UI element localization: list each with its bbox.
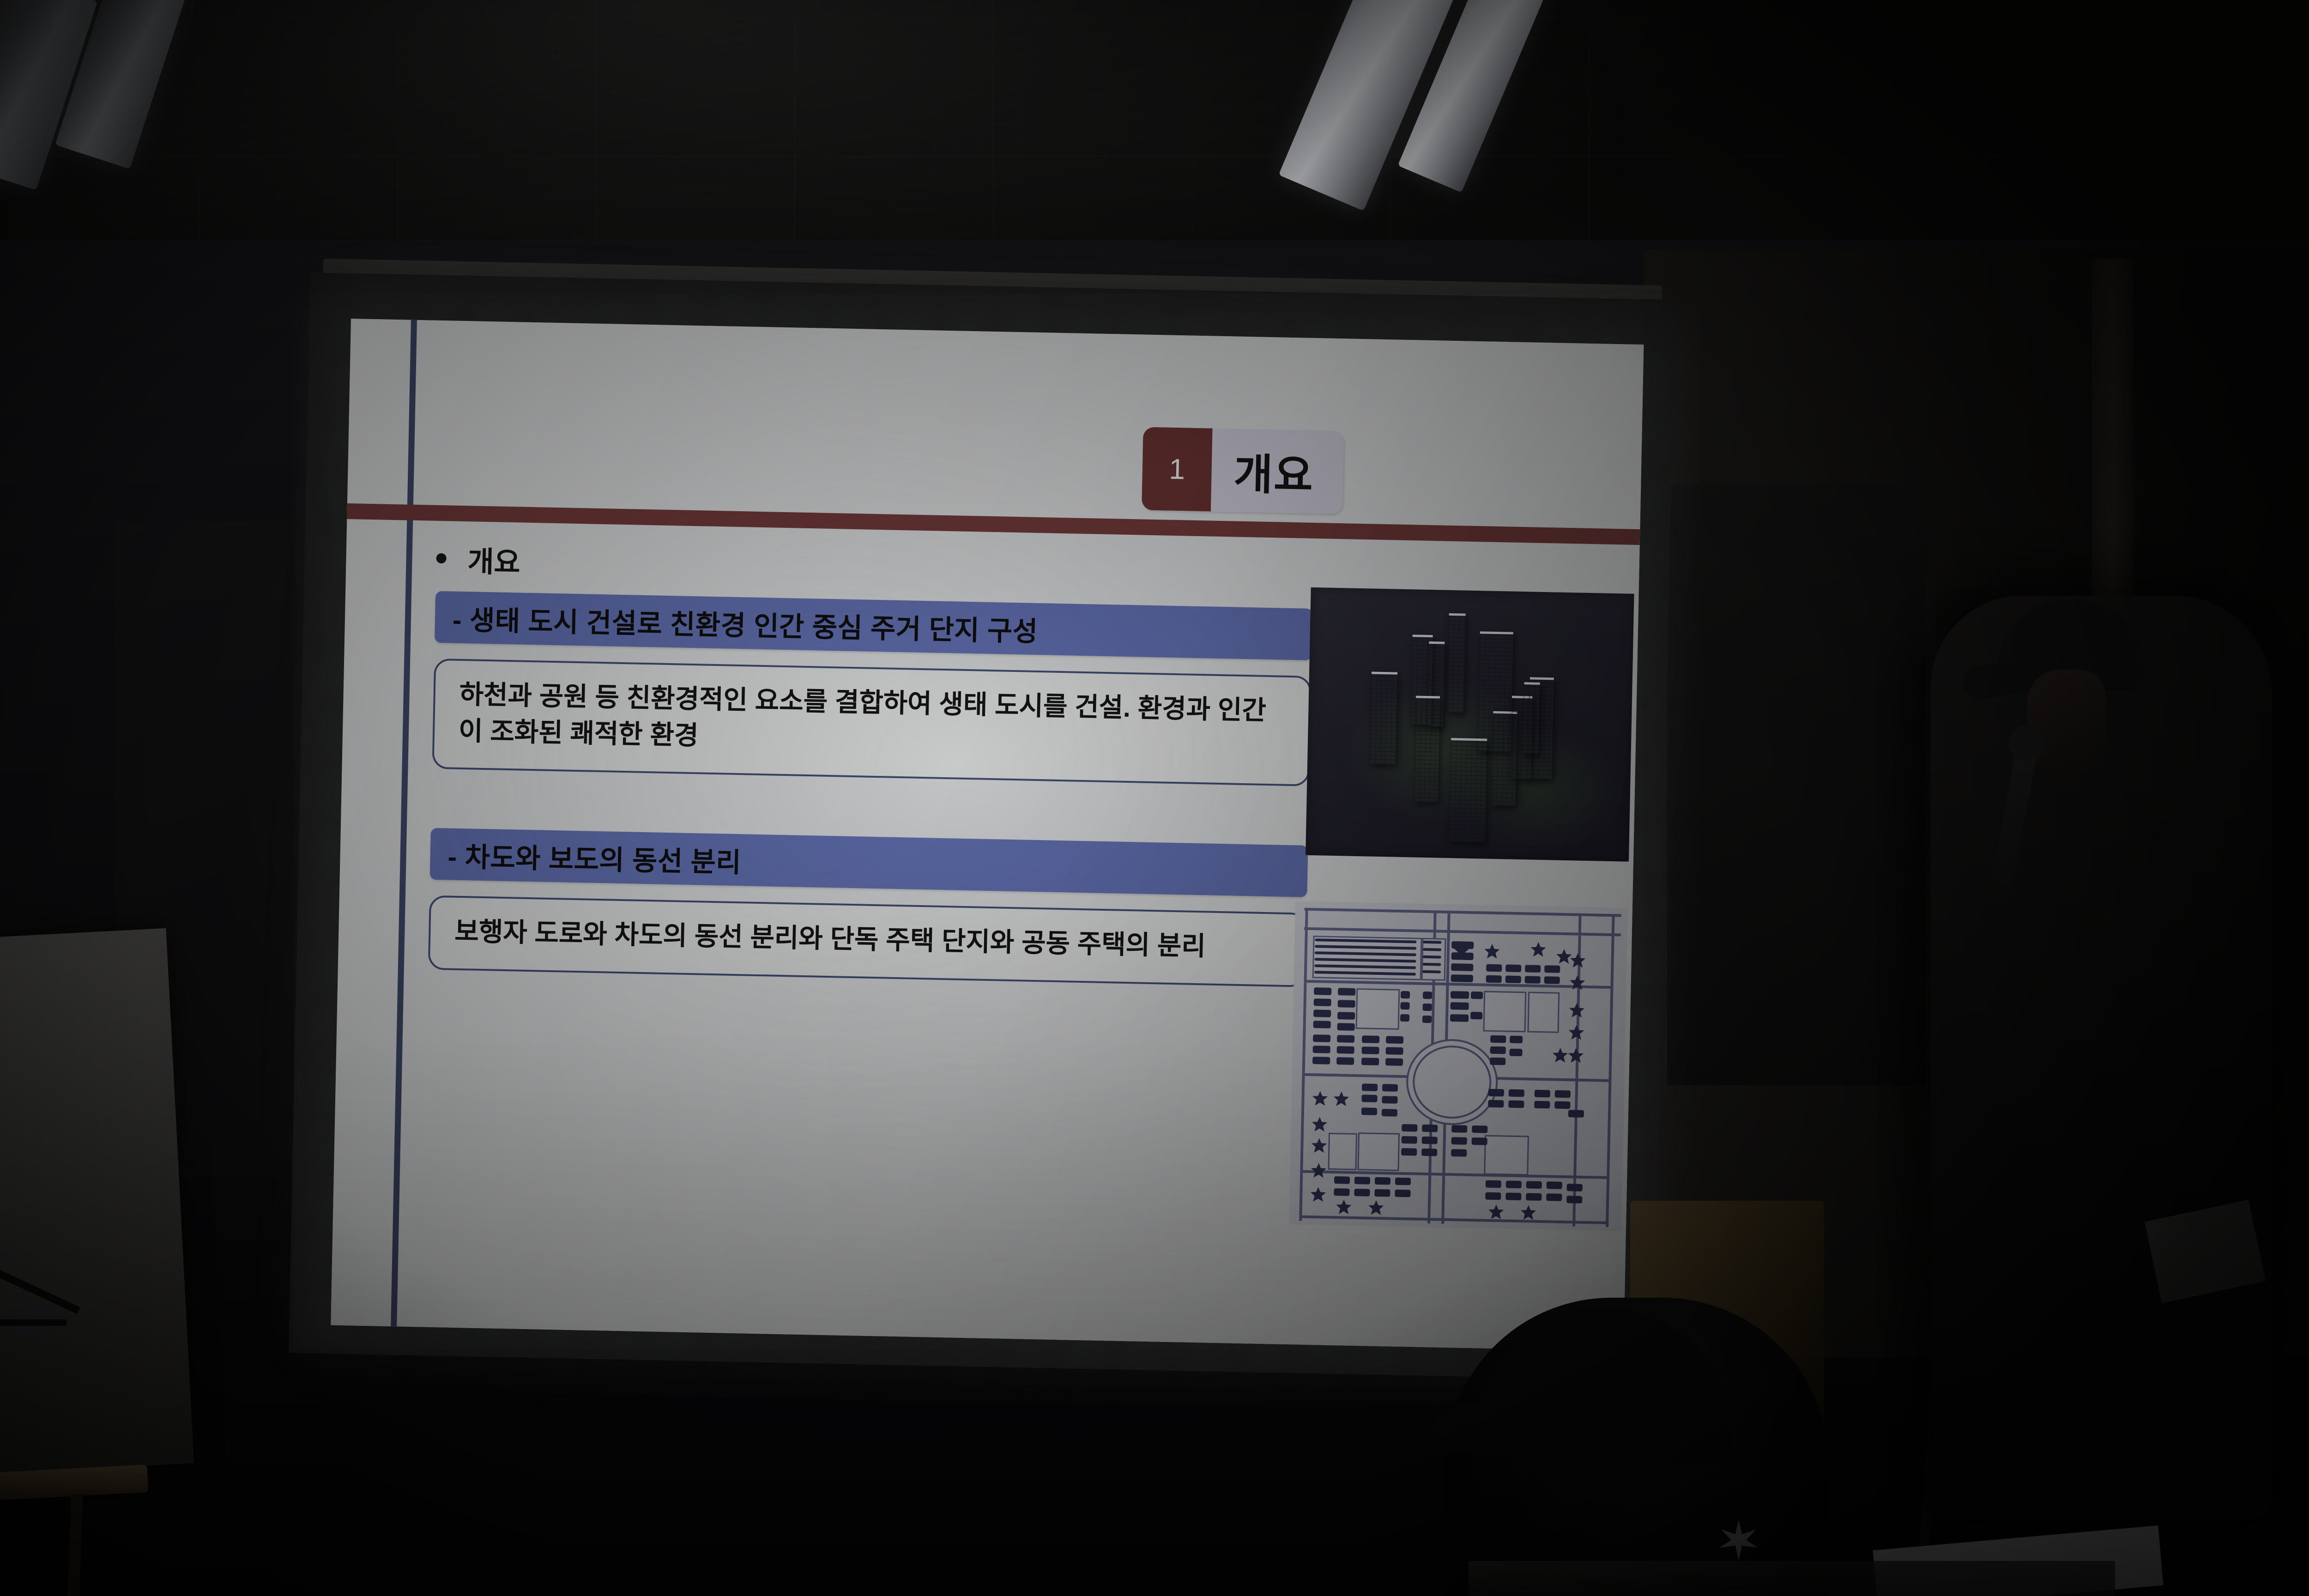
- page-title: 개요: [1211, 428, 1344, 514]
- plan-building: [1472, 1125, 1487, 1133]
- plan-building: [1451, 1125, 1467, 1133]
- plan-building: [1395, 1190, 1410, 1197]
- plan-building: [1450, 1014, 1469, 1022]
- plan-star-building: [1484, 944, 1501, 961]
- slide-header-chip: 1 개요: [1142, 427, 1344, 514]
- plan-star-building: [1530, 942, 1547, 959]
- plan-building: [1385, 1047, 1403, 1055]
- plan-star-building: [1312, 1091, 1329, 1108]
- plan-building: [1486, 1180, 1501, 1188]
- plan-building: [1400, 1002, 1409, 1010]
- plan-building: [1451, 1149, 1467, 1157]
- plan-plot: [1421, 938, 1446, 981]
- plan-building: [1314, 987, 1331, 995]
- plan-building: [1509, 1089, 1524, 1097]
- plan-star-building: [1333, 1091, 1350, 1108]
- plan-star-building: [1335, 1199, 1352, 1216]
- plan-building: [1334, 1188, 1349, 1196]
- microphone-head-icon: [2009, 725, 2045, 761]
- plan-building: [1385, 1058, 1403, 1066]
- plan-building: [1337, 1023, 1354, 1031]
- plan-building: [1421, 1149, 1437, 1156]
- site-master-plan-drawing: [1289, 901, 1628, 1231]
- plan-building: [1338, 988, 1355, 996]
- plan-building: [1422, 1004, 1432, 1011]
- plan-building: [1505, 1193, 1521, 1201]
- plan-building: [1423, 948, 1441, 951]
- projection-screen-surface: 1 개요 개요 - 생태 도시 건설로 친환경 인간 중심 주거 단지 구성 하…: [331, 319, 1644, 1351]
- plan-building: [1546, 1193, 1562, 1201]
- plan-building: [1525, 976, 1541, 984]
- plan-plot: [1357, 1132, 1400, 1171]
- plan-building: [1505, 964, 1521, 972]
- plan-building: [1451, 974, 1473, 982]
- plan-building: [1354, 1189, 1370, 1197]
- plan-building: [1525, 965, 1541, 973]
- plan-road: [1300, 1215, 1608, 1224]
- plan-building: [1486, 975, 1502, 983]
- plan-plot: [1527, 991, 1559, 1033]
- tower-building: [1523, 682, 1540, 754]
- plan-building: [1544, 965, 1560, 973]
- plan-building: [1361, 1107, 1377, 1115]
- section-text-card-2: 보행자 도로와 차도의 동선 분리와 단독 주택 단지와 공동 주택의 분리: [428, 895, 1307, 987]
- plan-road: [1305, 908, 1621, 917]
- plan-star-building: [1555, 949, 1572, 966]
- plan-building: [1423, 955, 1441, 959]
- plan-building: [1401, 991, 1410, 998]
- plan-building: [1535, 1090, 1550, 1098]
- plan-building: [1567, 1184, 1583, 1191]
- plan-building: [1470, 1012, 1482, 1020]
- plan-plot: [1483, 991, 1527, 1033]
- photo-scene: 1 개요 개요 - 생태 도시 건설로 친환경 인간 중심 주거 단지 구성 하…: [0, 0, 2309, 1596]
- plan-building: [1313, 1034, 1330, 1042]
- plan-building: [1313, 1046, 1330, 1053]
- presentation-slide: 1 개요 개요 - 생태 도시 건설로 친환경 인간 중심 주거 단지 구성 하…: [331, 319, 1644, 1351]
- plan-building: [1362, 1035, 1379, 1043]
- plan-building: [1423, 941, 1441, 944]
- plan-building: [1451, 991, 1469, 999]
- plan-building: [1374, 1189, 1390, 1197]
- plan-building: [1485, 1192, 1501, 1200]
- plan-building: [1488, 1100, 1504, 1108]
- plan-building: [1361, 1046, 1379, 1054]
- plan-building: [1336, 1046, 1354, 1054]
- plan-road: [1304, 927, 1621, 937]
- plan-building: [1361, 1094, 1377, 1102]
- plan-building: [1534, 1101, 1550, 1109]
- plan-building: [1312, 1057, 1330, 1064]
- front-table: [1469, 1561, 2115, 1596]
- plan-building: [1382, 1109, 1397, 1117]
- plan-building: [1422, 1016, 1432, 1023]
- plan-building: [1422, 1124, 1438, 1132]
- plan-building: [1336, 1057, 1354, 1065]
- bullet-label: 개요: [467, 538, 521, 580]
- plan-building: [1362, 1083, 1378, 1091]
- slide-section-number: 1: [1142, 427, 1213, 511]
- plan-building: [1544, 976, 1560, 984]
- plan-building: [1526, 1193, 1541, 1201]
- plan-star-building: [1311, 1138, 1328, 1155]
- plan-building: [1354, 1177, 1370, 1185]
- tower-building: [1449, 738, 1487, 843]
- plan-building: [1314, 998, 1331, 1006]
- tower-building: [1370, 672, 1397, 765]
- plan-plot: [1356, 988, 1400, 1030]
- plan-building: [1401, 1148, 1417, 1156]
- section-bar-1: - 생태 도시 건설로 친환경 인간 중심 주거 단지 구성: [435, 591, 1313, 660]
- plan-building: [1423, 991, 1432, 999]
- presenter-face: [2027, 670, 2106, 776]
- plan-star-building: [1552, 1048, 1569, 1065]
- plan-building: [1402, 1124, 1417, 1132]
- plan-building: [1422, 1137, 1438, 1144]
- plan-building: [1526, 1181, 1542, 1189]
- tower-building: [1414, 695, 1440, 802]
- plan-building: [1509, 1049, 1522, 1057]
- plan-star-building: [1311, 1117, 1328, 1134]
- plan-building: [1505, 975, 1521, 983]
- plan-building: [1472, 1137, 1487, 1145]
- plan-plot: [1484, 1135, 1529, 1176]
- plan-building: [1386, 1036, 1403, 1044]
- slide-horizontal-rule: [347, 503, 1640, 545]
- plan-road: [1606, 914, 1615, 1227]
- plan-star-building: [1310, 1187, 1327, 1204]
- plan-building: [1422, 970, 1441, 973]
- flip-chart-poster: [0, 928, 194, 1473]
- bullet-dot-icon: [436, 553, 446, 563]
- right-wallboard: [1667, 485, 1926, 1085]
- plan-building: [1490, 1046, 1506, 1054]
- plan-building: [1490, 1058, 1505, 1065]
- plan-star-building: [1367, 1200, 1384, 1217]
- plan-building: [1382, 1096, 1397, 1104]
- plan-building: [1486, 964, 1502, 972]
- plan-building: [1395, 1178, 1411, 1185]
- plan-building: [1506, 1181, 1522, 1189]
- plan-building: [1337, 1035, 1354, 1043]
- plan-building: [1490, 1035, 1506, 1043]
- plan-building: [1450, 1002, 1469, 1010]
- slide-vertical-accent-line: [391, 320, 417, 1327]
- plan-building: [1334, 1176, 1350, 1184]
- plan-building: [1451, 963, 1473, 971]
- plan-building: [1488, 1089, 1504, 1097]
- plan-road: [1299, 908, 1308, 1221]
- plan-building: [1547, 1181, 1562, 1189]
- plan-building: [1375, 1177, 1390, 1185]
- plan-building: [1554, 1101, 1570, 1109]
- tower-building: [1447, 613, 1465, 713]
- plan-building: [1402, 1136, 1417, 1144]
- poster-handwriting: ▪▪▪ ▪▪▪▪▪▪▪▪ ▪▪▪: [8, 1295, 121, 1340]
- plan-building: [1361, 1058, 1379, 1065]
- plan-building: [1313, 1010, 1331, 1017]
- aerial-apartment-complex-render: [1306, 587, 1634, 862]
- plan-plot: [1328, 1133, 1357, 1170]
- plan-building: [1510, 1036, 1523, 1044]
- plan-building: [1568, 1110, 1584, 1118]
- plan-building: [1382, 1084, 1398, 1092]
- plan-building: [1338, 1000, 1355, 1008]
- plan-building: [1337, 1012, 1355, 1020]
- plan-building: [1566, 1196, 1582, 1203]
- plan-building: [1422, 963, 1441, 966]
- plan-building: [1400, 1014, 1409, 1022]
- plan-building: [1555, 1090, 1571, 1098]
- plan-building: [1508, 1100, 1524, 1108]
- plan-building: [1471, 991, 1483, 999]
- section-text-card-1: 하천과 공원 등 친환경적인 요소를 결합하여 생태 도시를 건설. 환경과 인…: [432, 659, 1311, 786]
- plan-building: [1451, 1137, 1467, 1145]
- plan-building: [1313, 1021, 1331, 1028]
